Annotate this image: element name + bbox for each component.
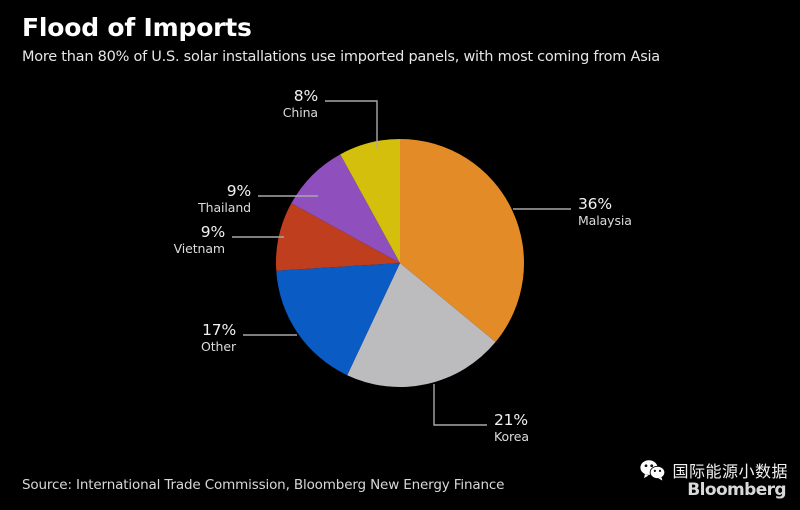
slice-name-korea: Korea — [494, 430, 529, 444]
page-subtitle: More than 80% of U.S. solar installation… — [22, 49, 782, 66]
slice-pct-korea: 21% — [494, 412, 529, 429]
slice-label-thailand: 9% Thailand — [198, 183, 251, 214]
slice-pct-malaysia: 36% — [578, 196, 632, 213]
wechat-icon — [640, 459, 666, 481]
pie-slice-vietnam — [276, 203, 400, 271]
leader-line-china — [325, 101, 377, 148]
pie-slice-china — [340, 139, 400, 263]
pie-slice-other — [276, 263, 400, 375]
slice-pct-thailand: 9% — [198, 183, 251, 200]
slice-pct-other: 17% — [201, 322, 236, 339]
leader-line-korea — [434, 384, 487, 425]
slice-name-china: China — [283, 106, 318, 120]
slice-name-thailand: Thailand — [198, 201, 251, 215]
leader-line-group — [232, 101, 571, 425]
slice-name-other: Other — [201, 340, 236, 354]
pie-chart-area — [0, 0, 800, 510]
source-note: Source: International Trade Commission, … — [22, 477, 504, 493]
pie-slice-malaysia — [400, 139, 524, 342]
watermark: 国际能源小数据 Bloomberg — [640, 458, 788, 500]
slice-label-china: 8% China — [283, 88, 318, 119]
slice-name-malaysia: Malaysia — [578, 214, 632, 228]
pie-slice-korea — [347, 263, 495, 387]
slice-label-korea: 21% Korea — [494, 412, 529, 443]
watermark-text: 国际能源小数据 — [672, 458, 788, 482]
chart-header: Flood of Imports More than 80% of U.S. s… — [22, 14, 782, 65]
pie-chart-svg — [0, 0, 800, 510]
slice-label-other: 17% Other — [201, 322, 236, 353]
slice-pct-vietnam: 9% — [174, 224, 225, 241]
page-title: Flood of Imports — [22, 14, 782, 42]
slice-name-vietnam: Vietnam — [174, 242, 225, 256]
pie-slice-thailand — [291, 154, 400, 263]
slice-pct-china: 8% — [283, 88, 318, 105]
chart-canvas: Flood of Imports More than 80% of U.S. s… — [0, 0, 800, 510]
pie-slice-group — [276, 139, 524, 387]
bloomberg-logo: Bloomberg — [687, 480, 786, 500]
slice-label-vietnam: 9% Vietnam — [174, 224, 225, 255]
slice-label-malaysia: 36% Malaysia — [578, 196, 632, 227]
watermark-row: 国际能源小数据 — [640, 458, 788, 482]
